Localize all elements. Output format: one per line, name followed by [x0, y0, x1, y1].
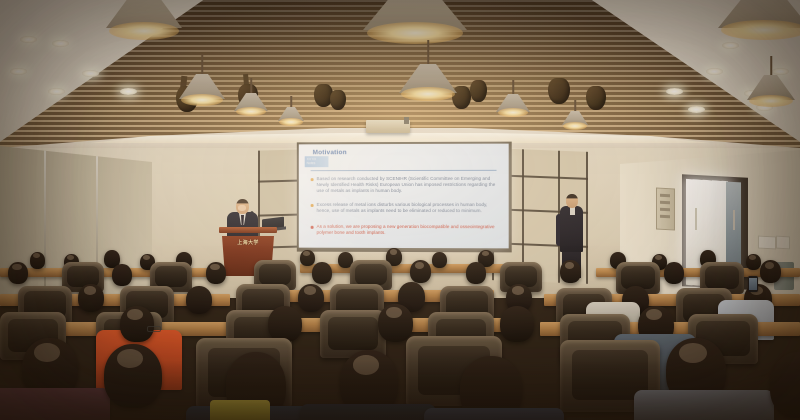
audience-head [120, 306, 154, 342]
standing-man-shirt [570, 207, 575, 215]
door-handle-icon[interactable] [733, 210, 735, 230]
pendant-lamp [276, 96, 306, 126]
audience-head [300, 250, 315, 266]
phone-screen [749, 278, 757, 290]
podium-top [219, 227, 277, 233]
standing-man-head [566, 194, 578, 208]
audience-head [30, 252, 45, 269]
wall-control-panel[interactable] [656, 188, 675, 231]
audience-head [410, 260, 431, 283]
audience-head [664, 262, 684, 284]
audience-torso-foreground [0, 388, 110, 420]
pendant-lamp [494, 80, 532, 118]
audience-head-foreground [770, 352, 800, 418]
pendant-lamp [560, 100, 590, 130]
projection-screen: Motivation XX'XX Notes Based on research… [299, 144, 509, 249]
slide-bullet: Based on research conducted by SCENIHR (… [317, 176, 499, 194]
audience-head [378, 304, 413, 342]
recessed-light [48, 88, 65, 95]
hanging-speaker [330, 90, 346, 110]
lecture-hall-photo: Motivation XX'XX Notes Based on research… [0, 0, 800, 420]
pendant-lamp [716, 0, 800, 52]
slide-bullet: Excess release of metal ions disturbs va… [317, 202, 499, 214]
pendant-lamp [744, 56, 798, 102]
pendant-lamp [396, 40, 460, 92]
speaker-face [238, 205, 246, 211]
recessed-light [666, 88, 683, 95]
recessed-light [120, 88, 137, 95]
hanging-speaker [470, 80, 487, 102]
audience-head [112, 264, 132, 286]
audience-torso-foreground [424, 408, 564, 420]
pendant-lamp [232, 78, 270, 114]
audience-head [312, 262, 332, 284]
slide-bullet-highlight: As a solution, we are proposing a new ge… [317, 224, 499, 237]
audience-torso-foreground [300, 404, 436, 420]
recessed-light [20, 36, 37, 43]
door-handle-icon[interactable] [695, 208, 697, 230]
recessed-light [82, 70, 99, 77]
audience-head-foreground [104, 344, 162, 408]
audience-head [760, 260, 781, 283]
slide-badge: XX'XX Notes [305, 156, 329, 167]
audience-head [78, 284, 104, 312]
slide-badge-line2: Notes [307, 161, 316, 165]
recessed-light [706, 68, 723, 75]
slide-title: Motivation [313, 149, 347, 156]
audience-head [500, 306, 534, 342]
audience-head [298, 284, 324, 312]
recessed-light [52, 40, 69, 47]
slide-divider [311, 170, 497, 171]
audience-torso-foreground [634, 390, 774, 420]
podium-nameplate: 上海大学 [230, 238, 266, 246]
projector-mount [404, 117, 409, 124]
audience-head [8, 262, 28, 284]
audience-head [206, 262, 226, 284]
audience-head [432, 252, 447, 268]
eyeglasses-icon [147, 326, 161, 332]
audience-head [466, 262, 486, 284]
audience-head [268, 306, 302, 342]
recessed-light [688, 106, 705, 113]
light-switch-plate[interactable] [758, 236, 776, 250]
audience-head [746, 254, 761, 270]
audience-head [560, 260, 581, 283]
light-switch-plate[interactable] [776, 236, 790, 250]
audience-head [186, 286, 212, 314]
yellow-jacket-detail [210, 400, 270, 420]
recessed-light [10, 68, 27, 75]
pendant-lamp [176, 54, 228, 100]
pendant-lamp [104, 0, 184, 50]
